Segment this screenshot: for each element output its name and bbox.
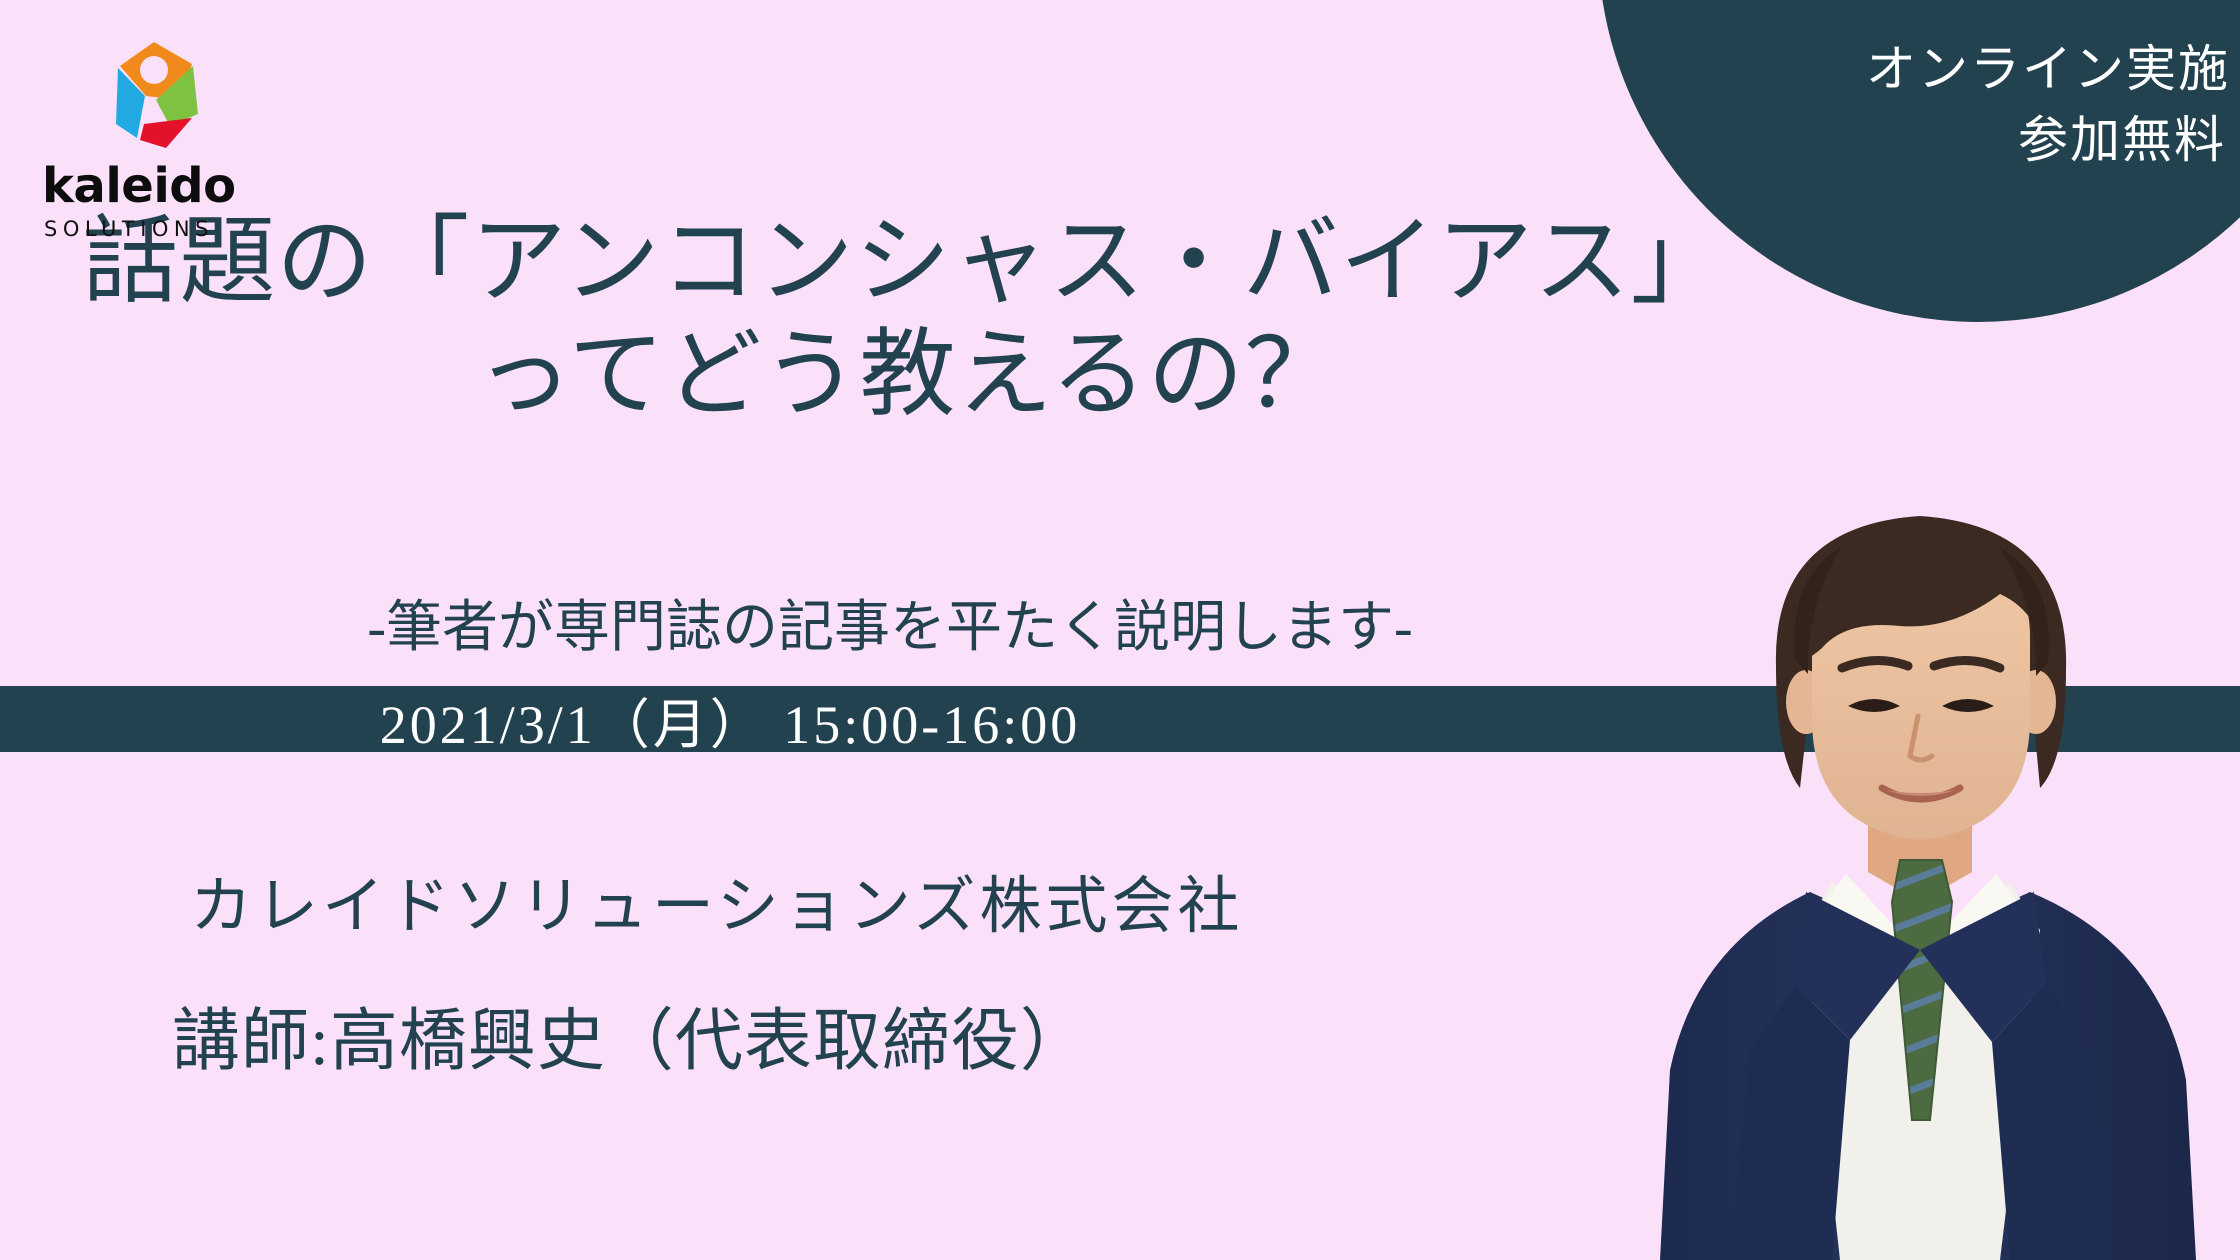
page-title: 話題の「アンコンシャス・バイアス」 ってどう教えるの？ — [0, 210, 1800, 427]
kaleido-logo: kaleido SOLUTIONS — [40, 38, 270, 241]
logo-subtext: SOLUTIONS — [44, 217, 270, 241]
title-line-1: 話題の「アンコンシャス・バイアス」 — [0, 210, 1800, 314]
speaker-portrait-photo — [1600, 430, 2240, 1260]
kaleidoscope-pinwheel-logo-icon — [94, 38, 220, 156]
seminar-poster: オンライン実施 参加無料 kaleido SOLUTIONS 話題の「アンコンシ… — [0, 0, 2240, 1260]
title-line-2: ってどう教えるの？ — [0, 322, 1800, 428]
online-badge-circle — [1598, 0, 2240, 322]
logo-wordmark: kaleido — [42, 162, 270, 210]
organization-name: カレイドソリューションズ株式会社 — [190, 855, 1244, 945]
speaker-name: 講師:高橋興史（代表取締役） — [172, 985, 1089, 1084]
page-subtitle: -筆者が専門誌の記事を平たく説明します- — [0, 582, 1780, 663]
